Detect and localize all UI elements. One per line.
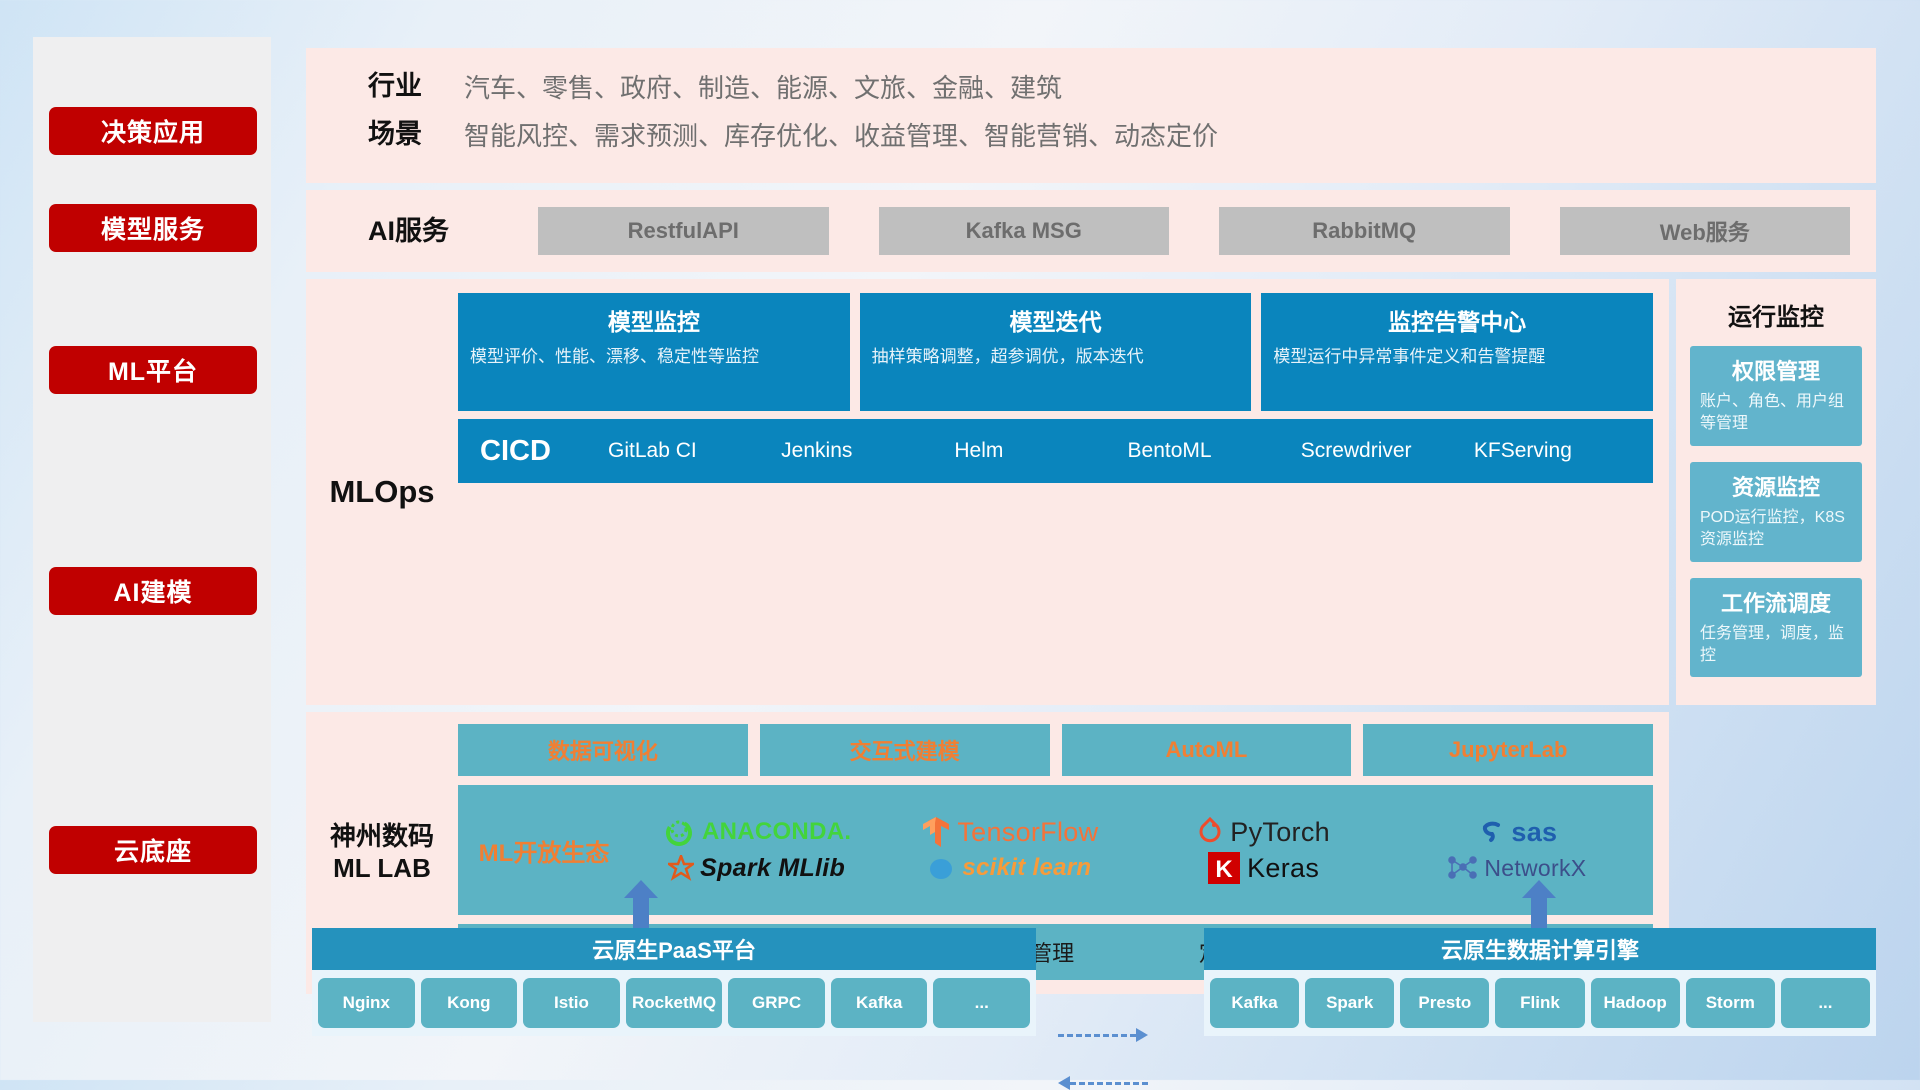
monitor-card-permissions[interactable]: 权限管理 账户、角色、用户组等管理 <box>1690 346 1862 446</box>
card-title: 工作流调度 <box>1700 586 1852 618</box>
rail-item-ml-platform[interactable]: ML平台 <box>49 346 257 394</box>
paas-title: 云原生PaaS平台 <box>312 928 1036 970</box>
pytorch-wordmark: PyTorch <box>1230 817 1330 848</box>
card-desc: 任务管理，调度，监控 <box>1700 623 1852 668</box>
mlops-band: MLOps 模型监控 模型评价、性能、漂移、稳定性等监控 模型迭代 抽样策略调整… <box>306 279 1669 705</box>
rail-item-model-service[interactable]: 模型服务 <box>49 204 257 252</box>
rail-label: 云底座 <box>114 832 192 868</box>
rail-label: ML平台 <box>108 352 198 388</box>
rail-item-ai-modeling[interactable]: AI建模 <box>49 567 257 615</box>
cicd-item-list: GitLab CI Jenkins Helm BentoML Screwdriv… <box>608 439 1647 462</box>
monitor-card-workflow[interactable]: 工作流调度 任务管理，调度，监控 <box>1690 578 1862 678</box>
monitor-card-resources[interactable]: 资源监控 POD运行监控，K8S资源监控 <box>1690 462 1862 562</box>
paas-chip-grpc[interactable]: GRPC <box>728 978 825 1028</box>
tensorflow-wordmark: TensorFlow <box>957 817 1098 848</box>
apache-spark-mllib-logo: Spark MLlib <box>668 854 845 883</box>
modeling-tab-data-visualization[interactable]: 数据可视化 <box>458 724 748 776</box>
paas-chip-kafka[interactable]: Kafka <box>831 978 928 1028</box>
ml-ecosystem-logos: ANACONDA. TensorFlow <box>630 815 1643 885</box>
card-desc: 账户、角色、用户组等管理 <box>1700 391 1852 436</box>
card-title: 模型监控 <box>470 303 838 337</box>
arrow-up-paas-icon <box>624 880 658 928</box>
mlops-label: MLOps <box>306 293 458 691</box>
data-engine-chip-flink[interactable]: Flink <box>1495 978 1584 1028</box>
paas-chip-rocketmq[interactable]: RocketMQ <box>626 978 723 1028</box>
cicd-item-jenkins[interactable]: Jenkins <box>781 439 954 462</box>
data-engine-group: 云原生数据计算引擎 Kafka Spark Presto Flink Hadoo… <box>1204 928 1876 1036</box>
paas-group: 云原生PaaS平台 Nginx Kong Istio RocketMQ GRPC… <box>312 928 1036 1036</box>
mlops-card-alert-center[interactable]: 监控告警中心 模型运行中异常事件定义和告警提醒 <box>1261 293 1653 411</box>
card-title: 模型迭代 <box>872 303 1240 337</box>
data-engine-chip-kafka[interactable]: Kafka <box>1210 978 1299 1028</box>
ai-service-web[interactable]: Web服务 <box>1560 207 1851 255</box>
spark-star-icon <box>668 855 694 881</box>
card-title: 监控告警中心 <box>1273 303 1641 337</box>
modeling-label-line1: 神州数码 <box>330 820 434 853</box>
ai-service-list: RestfulAPI Kafka MSG RabbitMQ Web服务 <box>518 207 1850 255</box>
architecture-diagram: 决策应用 模型服务 ML平台 AI建模 云底座 行业 汽车、零售、政府、制造、能… <box>0 0 1920 1080</box>
mlops-card-model-monitoring[interactable]: 模型监控 模型评价、性能、漂移、稳定性等监控 <box>458 293 850 411</box>
scikit-blue-dot-icon <box>928 854 956 882</box>
arrow-up-data-engine-icon <box>1522 880 1556 928</box>
scenario-row: 场景 智能风控、需求预测、库存优化、收益管理、智能营销、动态定价 <box>332 118 1850 152</box>
cicd-item-gitlab-ci[interactable]: GitLab CI <box>608 439 781 462</box>
mlops-card-list: 模型监控 模型评价、性能、漂移、稳定性等监控 模型迭代 抽样策略调整，超参调优，… <box>458 293 1653 411</box>
ml-ecosystem-label: ML开放生态 <box>458 833 630 868</box>
cicd-item-helm[interactable]: Helm <box>954 439 1127 462</box>
paas-chip-kong[interactable]: Kong <box>421 978 518 1028</box>
modeling-tab-interactive-modeling[interactable]: 交互式建模 <box>760 724 1050 776</box>
paas-chip-nginx[interactable]: Nginx <box>318 978 415 1028</box>
data-engine-chip-storm[interactable]: Storm <box>1686 978 1775 1028</box>
data-engine-title: 云原生数据计算引擎 <box>1204 928 1876 970</box>
card-desc: 模型运行中异常事件定义和告警提醒 <box>1273 345 1641 369</box>
cloud-base-row: 云原生PaaS平台 Nginx Kong Istio RocketMQ GRPC… <box>306 880 1876 1028</box>
ai-service-band: AI服务 RestfulAPI Kafka MSG RabbitMQ Web服务 <box>306 190 1876 272</box>
runtime-monitor-column: 运行监控 权限管理 账户、角色、用户组等管理 资源监控 POD运行监控，K8S资… <box>1676 279 1876 705</box>
data-engine-chip-spark[interactable]: Spark <box>1305 978 1394 1028</box>
card-title: 资源监控 <box>1700 470 1852 502</box>
data-engine-chip-more[interactable]: ... <box>1781 978 1870 1028</box>
main-stack: 行业 汽车、零售、政府、制造、能源、文旅、金融、建筑 场景 智能风控、需求预测、… <box>306 48 1876 994</box>
card-desc: 抽样策略调整，超参调优，版本迭代 <box>872 345 1240 369</box>
scenario-label: 场景 <box>332 118 464 151</box>
pytorch-logo: PyTorch <box>1196 816 1330 848</box>
mlops-content: 模型监控 模型评价、性能、漂移、稳定性等监控 模型迭代 抽样策略调整，超参调优，… <box>458 293 1653 691</box>
industry-label: 行业 <box>332 70 464 103</box>
industry-list: 汽车、零售、政府、制造、能源、文旅、金融、建筑 <box>464 70 1062 104</box>
mlops-card-model-iteration[interactable]: 模型迭代 抽样策略调整，超参调优，版本迭代 <box>860 293 1252 411</box>
scenario-list: 智能风控、需求预测、库存优化、收益管理、智能营销、动态定价 <box>464 118 1218 152</box>
modeling-tab-automl[interactable]: AutoML <box>1062 724 1352 776</box>
scikit-learn-logo: scikit learn <box>928 854 1091 882</box>
anaconda-logo: ANACONDA. <box>662 815 851 849</box>
decision-apps-band: 行业 汽车、零售、政府、制造、能源、文旅、金融、建筑 场景 智能风控、需求预测、… <box>306 48 1876 183</box>
ai-service-label: AI服务 <box>368 215 518 248</box>
cicd-bar: CICD GitLab CI Jenkins Helm BentoML Scre… <box>458 419 1653 483</box>
tensorflow-mark-icon <box>921 815 951 849</box>
cicd-item-screwdriver[interactable]: Screwdriver <box>1301 439 1474 462</box>
sas-wordmark: sas <box>1511 817 1557 848</box>
rail-label: 决策应用 <box>101 113 205 149</box>
cicd-item-bentoml[interactable]: BentoML <box>1128 439 1301 462</box>
tensorflow-logo: TensorFlow <box>921 815 1098 849</box>
data-engine-chip-presto[interactable]: Presto <box>1400 978 1489 1028</box>
scikit-learn-wordmark: scikit learn <box>962 854 1091 882</box>
rail-label: 模型服务 <box>101 210 205 246</box>
rail-item-decision-apps[interactable]: 决策应用 <box>49 107 257 155</box>
paas-chip-list: Nginx Kong Istio RocketMQ GRPC Kafka ... <box>312 970 1036 1036</box>
layer-rail: 决策应用 模型服务 ML平台 AI建模 云底座 <box>33 37 271 1022</box>
anaconda-wordmark: ANACONDA. <box>702 818 851 846</box>
cicd-title: CICD <box>480 435 604 468</box>
paas-chip-more[interactable]: ... <box>933 978 1030 1028</box>
paas-chip-istio[interactable]: Istio <box>523 978 620 1028</box>
rail-label: AI建模 <box>113 573 192 609</box>
networkx-wordmark: NetworkX <box>1484 855 1586 882</box>
data-engine-chip-list: Kafka Spark Presto Flink Hadoop Storm ..… <box>1204 970 1876 1036</box>
ai-service-restfulapi[interactable]: RestfulAPI <box>538 207 829 255</box>
mlops-row: MLOps 模型监控 模型评价、性能、漂移、稳定性等监控 模型迭代 抽样策略调整… <box>306 279 1876 705</box>
anaconda-ring-icon <box>662 815 696 849</box>
card-desc: POD运行监控，K8S资源监控 <box>1700 507 1852 552</box>
networkx-logo: NetworkX <box>1446 853 1586 883</box>
card-desc: 模型评价、性能、漂移、稳定性等监控 <box>470 345 838 369</box>
modeling-tab-list: 数据可视化 交互式建模 AutoML JupyterLab <box>458 724 1653 776</box>
ai-service-rabbitmq[interactable]: RabbitMQ <box>1219 207 1510 255</box>
sas-logo: sas <box>1475 817 1557 848</box>
modeling-tab-jupyterlab[interactable]: JupyterLab <box>1363 724 1653 776</box>
rail-item-cloud-base[interactable]: 云底座 <box>49 826 257 874</box>
pytorch-flame-icon <box>1196 816 1224 848</box>
sas-swirl-icon <box>1475 817 1505 847</box>
dashed-arrow-left-icon <box>1058 1076 1148 1090</box>
runtime-monitor-title: 运行监控 <box>1690 297 1862 332</box>
card-title: 权限管理 <box>1700 354 1852 386</box>
cicd-item-kfserving[interactable]: KFServing <box>1474 439 1647 462</box>
spark-wordmark: Spark MLlib <box>700 854 845 883</box>
ai-service-kafka-msg[interactable]: Kafka MSG <box>879 207 1170 255</box>
data-engine-chip-hadoop[interactable]: Hadoop <box>1591 978 1680 1028</box>
dashed-arrow-right-icon <box>1058 1028 1148 1042</box>
industry-row: 行业 汽车、零售、政府、制造、能源、文旅、金融、建筑 <box>332 70 1850 104</box>
networkx-graph-icon <box>1446 853 1478 883</box>
